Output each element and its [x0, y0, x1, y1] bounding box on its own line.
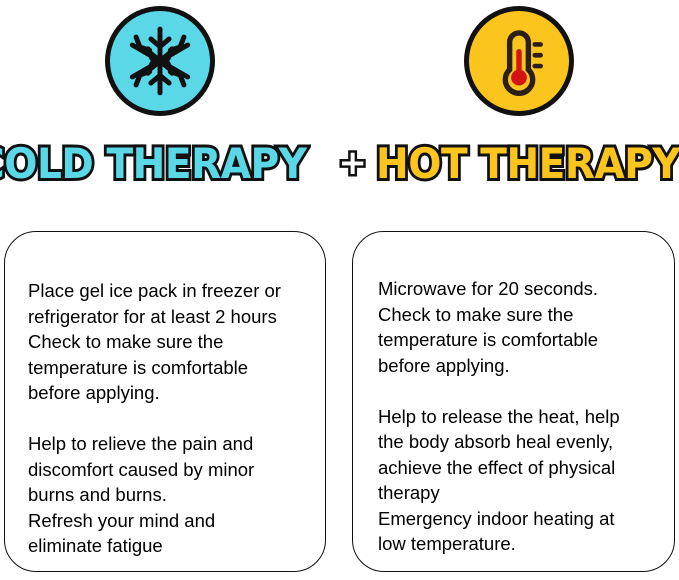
hot-therapy-heading: HOT THERAPY: [376, 141, 679, 187]
cold-therapy-heading: COLD THERAPY: [0, 141, 306, 187]
therapy-comparison-page: COLD THERAPY + HOT THERAPY Place gel ice…: [0, 0, 679, 580]
icon-row: [0, 4, 679, 122]
headline-row: COLD THERAPY + HOT THERAPY: [0, 138, 679, 190]
hot-instructions-paragraph: Microwave for 20 seconds. Check to make …: [378, 276, 658, 378]
thermometer-icon: [483, 25, 555, 97]
cold-therapy-card: Place gel ice pack in freezer or refrige…: [4, 231, 326, 572]
hot-benefits-paragraph: Help to release the heat, help the body …: [378, 404, 658, 557]
cold-therapy-badge: [105, 6, 215, 116]
cold-benefits-paragraph: Help to relieve the pain and discomfort …: [28, 431, 309, 559]
snowflake-icon: [122, 23, 198, 99]
plus-separator: +: [338, 140, 367, 186]
cold-instructions-paragraph: Place gel ice pack in freezer or refrige…: [28, 278, 309, 406]
hot-therapy-card: Microwave for 20 seconds. Check to make …: [352, 231, 675, 572]
hot-therapy-badge: [464, 6, 574, 116]
